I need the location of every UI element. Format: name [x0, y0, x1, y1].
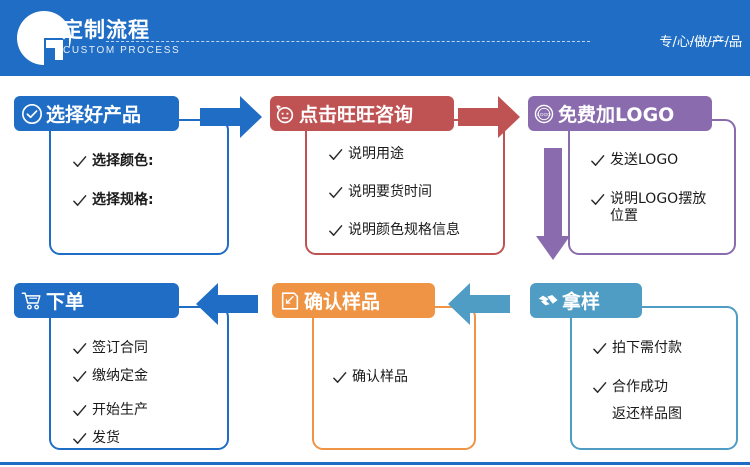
check-icon: [590, 192, 605, 207]
card-header-place-order[interactable]: 下单: [14, 283, 179, 318]
list-item: 说明要货时间: [328, 184, 460, 201]
list-item-label: 选择规格:: [92, 192, 154, 209]
header-dash-line-left: [106, 41, 590, 42]
arrow-right-red: [458, 96, 520, 142]
page-header: 定制流程 CUSTOM PROCESS 专/心/做/产/品: [0, 0, 750, 76]
card-header-free-logo[interactable]: LOGO 免费加LOGO: [528, 96, 712, 131]
card-title: 免费加LOGO: [558, 100, 674, 127]
card-title: 点击旺旺咨询: [299, 100, 413, 127]
header-slogan: 专/心/做/产/品: [659, 31, 742, 50]
check-icon: [72, 154, 87, 169]
page-subtitle: CUSTOM PROCESS: [63, 45, 180, 56]
list-item: 开始生产: [72, 402, 148, 419]
card-title: 下单: [46, 287, 84, 314]
list-item-label: 说明LOGO摆放: [610, 191, 706, 208]
process-infographic: 定制流程 CUSTOM PROCESS 专/心/做/产/品: [0, 0, 750, 467]
list-item-label: 发送LOGO: [610, 152, 678, 169]
list-item: 发货: [72, 430, 148, 447]
list-item: 缴纳定金: [72, 368, 148, 385]
card-header-confirm-sample[interactable]: 确认样品: [272, 283, 435, 318]
check-icon: [72, 431, 87, 446]
svg-text:LOGO: LOGO: [537, 112, 551, 118]
card-title: 选择好产品: [46, 100, 141, 127]
page-title: 定制流程: [62, 14, 150, 44]
list-item-label: 说明用途: [348, 146, 404, 163]
list-item: 发送LOGO: [590, 152, 706, 169]
list-item: 说明用途: [328, 146, 460, 163]
list-item: 选择规格:: [72, 192, 154, 209]
list-item: 确认样品: [332, 369, 408, 386]
list-item-continuation: 位置: [590, 208, 706, 225]
list-item: 合作成功: [592, 379, 682, 396]
arrow-left-blue: [196, 283, 258, 329]
list-item-label: 缴纳定金: [92, 368, 148, 385]
check-icon: [72, 193, 87, 208]
shopping-cart-icon: [21, 290, 43, 312]
list-item-label: 说明要货时间: [348, 184, 432, 201]
list-item-label: 合作成功: [612, 379, 668, 396]
arrow-right-blue: [200, 96, 262, 142]
card-header-take-sample[interactable]: 拿样: [530, 283, 642, 318]
check-icon: [328, 223, 343, 238]
check-icon: [72, 341, 87, 356]
list-item: 拍下需付款: [592, 340, 682, 357]
list-item-label: 签订合同: [92, 340, 148, 357]
check-icon: [592, 341, 607, 356]
card-title: 拿样: [562, 287, 600, 314]
list-item: 选择颜色:: [72, 153, 154, 170]
list-item: 说明颜色规格信息: [328, 222, 460, 239]
handshake-icon: [537, 290, 559, 312]
logo-badge-icon: LOGO: [533, 103, 555, 125]
wangwang-face-icon: [274, 103, 296, 125]
card-header-choose-product[interactable]: 选择好产品: [14, 96, 179, 131]
list-item-label: 发货: [92, 430, 120, 447]
footer-divider: [0, 462, 750, 465]
list-item-label: 拍下需付款: [612, 340, 682, 357]
check-icon: [590, 153, 605, 168]
check-icon: [328, 147, 343, 162]
check-icon: [592, 380, 607, 395]
list-item-label: 选择颜色:: [92, 153, 154, 170]
check-icon: [328, 185, 343, 200]
check-circle-icon: [21, 103, 43, 125]
check-icon: [72, 403, 87, 418]
list-item-label: 说明颜色规格信息: [348, 222, 460, 239]
list-item-label: 确认样品: [352, 369, 408, 386]
list-item: 签订合同: [72, 340, 148, 357]
arrow-down-purple: [536, 148, 570, 264]
list-item-continuation: 返还样品图: [592, 406, 682, 423]
arrow-left-teal: [448, 283, 510, 329]
card-title: 确认样品: [304, 287, 380, 314]
card-header-wangwang-consult[interactable]: 点击旺旺咨询: [270, 96, 454, 131]
check-icon: [72, 369, 87, 384]
check-icon: [332, 370, 347, 385]
sample-sheet-icon: [279, 290, 301, 312]
list-item: 说明LOGO摆放: [590, 191, 706, 208]
list-item-label: 开始生产: [92, 402, 148, 419]
